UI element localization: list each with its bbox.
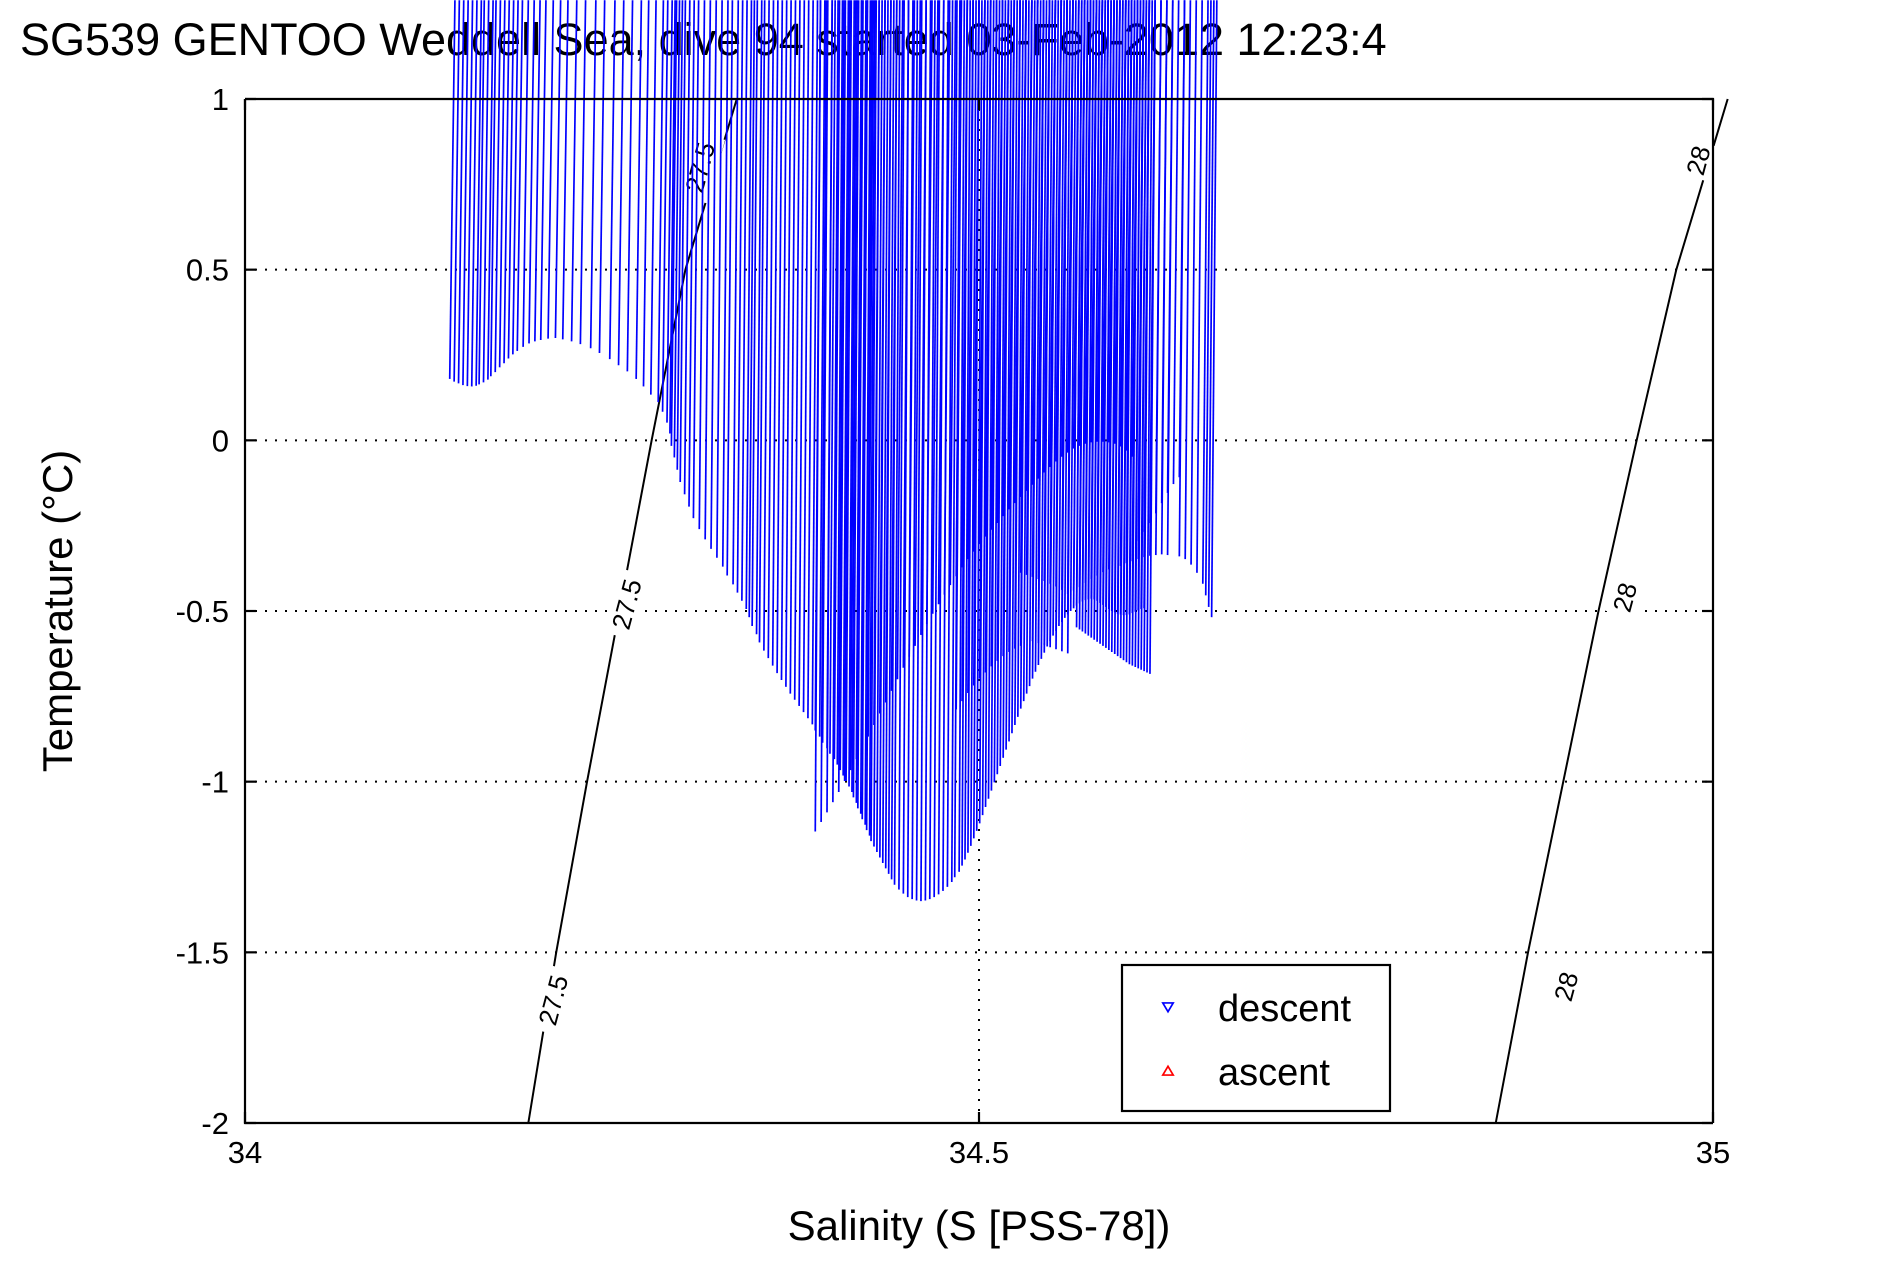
data-point-descent xyxy=(699,0,704,529)
y-axis-label: Temperature (°C) xyxy=(34,450,81,773)
x-axis-label-group: Salinity (S [PSS-78]) xyxy=(788,1202,1171,1249)
x-axis-label: Salinity (S [PSS-78]) xyxy=(788,1202,1171,1249)
y-axis-label-group: Temperature (°C) xyxy=(34,450,81,773)
x-tick-label: 34 xyxy=(228,1135,262,1170)
data-point-descent xyxy=(1168,0,1173,493)
data-point-descent xyxy=(1191,0,1196,564)
data-point-descent xyxy=(1156,0,1161,513)
x-tick-label: 35 xyxy=(1696,1135,1730,1170)
contour-label: 27.5 xyxy=(532,972,574,1029)
data-point-descent xyxy=(1162,0,1167,503)
data-point-descent xyxy=(1173,0,1178,484)
y-tick-label: -2 xyxy=(201,1106,229,1141)
y-tick-label: -0.5 xyxy=(176,594,229,629)
figure-canvas: SG539 GENTOO Weddell Sea, dive 94 starte… xyxy=(0,0,1891,1262)
contour-label-group: 28 xyxy=(1545,965,1587,1009)
y-tick-label: 0.5 xyxy=(186,253,229,288)
series-descent-markers[interactable] xyxy=(450,0,1217,901)
data-point-descent xyxy=(711,0,716,549)
data-point-descent xyxy=(1197,0,1202,573)
y-tick-label: -1.5 xyxy=(176,935,229,970)
y-tick-label: 0 xyxy=(212,423,229,458)
contour-label-group: 27.5 xyxy=(528,964,578,1037)
y-tick-label: 1 xyxy=(212,82,229,117)
data-point-descent xyxy=(717,0,722,558)
y-tick-label: -1 xyxy=(201,765,229,800)
contour-label: 27.5 xyxy=(606,576,648,633)
x-tick-label: 34.5 xyxy=(949,1135,1009,1170)
contour-label-group: 27.5 xyxy=(602,568,652,641)
contour-label-group: 28 xyxy=(1604,576,1646,620)
legend-label-ascent: ascent xyxy=(1218,1052,1330,1094)
data-point-descent xyxy=(1179,0,1184,477)
legend[interactable]: descentascent xyxy=(1122,965,1390,1111)
data-point-descent xyxy=(1185,0,1190,559)
ts-diagram-plot: SG539 GENTOO Weddell Sea, dive 94 starte… xyxy=(0,0,1891,1262)
legend-label-descent: descent xyxy=(1218,988,1352,1030)
